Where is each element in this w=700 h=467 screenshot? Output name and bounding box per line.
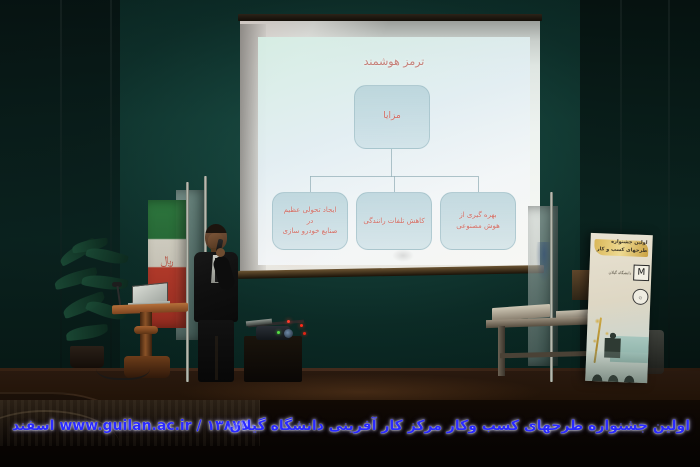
power-cable <box>96 352 150 380</box>
banner-logo-primary-icon: M <box>633 265 650 282</box>
photo-screenshot: ترمز هوشمند مزایا ایجاد تحولی عظیم در صن… <box>0 0 700 467</box>
curtain-fold <box>668 0 670 400</box>
banner-subtitle: دانشگاه گیلان <box>591 269 635 276</box>
projector-stand <box>244 336 302 382</box>
banner-audience-silhouette <box>585 351 648 383</box>
potted-plant <box>52 236 140 360</box>
presenter-leg-gap <box>215 336 218 380</box>
caption-separator: / <box>192 418 207 434</box>
slide-node-benefit-2: کاهش تلفات رانندگی <box>356 192 432 250</box>
connector-line <box>478 176 479 192</box>
connector-line <box>391 149 392 177</box>
table-leg <box>498 326 505 376</box>
slide-node-benefit-1: ایجاد تحولی عظیم در صنایع خودرو سازی <box>272 192 348 250</box>
projector-led-indicator <box>300 324 303 327</box>
caption-bar: www.guilan.ac.ir / ۱۳۸۷۲۰ اسفند اولین جش… <box>0 400 700 467</box>
caption-left: www.guilan.ac.ir / ۱۳۸۷۲۰ اسفند <box>12 418 258 434</box>
projector-led-indicator <box>287 320 290 323</box>
projector-led-indicator <box>277 331 280 334</box>
flag-right <box>528 206 558 366</box>
screen-surface: ترمز هوشمند مزایا ایجاد تحولی عظیم در صن… <box>240 21 540 271</box>
plant-leaf <box>65 324 108 341</box>
plant-leaf <box>85 244 129 267</box>
podium-knob <box>134 326 158 334</box>
banner-logo-secondary-icon: ۞ <box>632 289 649 306</box>
projector-led-indicator <box>303 332 306 335</box>
banner-title: اولین جشنواره طرحهای کسب و کار <box>592 238 651 255</box>
connector-line <box>310 176 311 192</box>
projected-slide: ترمز هوشمند مزایا ایجاد تحولی عظیم در صن… <box>258 37 530 265</box>
connector-line <box>394 176 395 192</box>
caption-right: اولین جشنواره طرحهای کسب وکار مرکز کار آ… <box>229 418 690 434</box>
flag-emblem-icon: ﷼ <box>160 252 174 268</box>
slide-title: ترمز هوشمند <box>258 55 530 68</box>
slide-node-root: مزایا <box>354 85 430 149</box>
screen-top-rail <box>238 14 542 21</box>
presenter <box>186 224 246 382</box>
presenter-hand <box>216 248 225 257</box>
slide-node-benefit-3: بهره گیری از هوش مصنوعی <box>440 192 516 250</box>
projector-lens-icon <box>284 329 293 338</box>
screen-smudge <box>392 249 414 262</box>
projection-screen: ترمز هوشمند مزایا ایجاد تحولی عظیم در صن… <box>240 18 540 280</box>
caption-url: www.guilan.ac.ir <box>59 418 191 434</box>
event-rollup-banner: اولین جشنواره طرحهای کسب و کار دانشگاه گ… <box>585 233 653 383</box>
